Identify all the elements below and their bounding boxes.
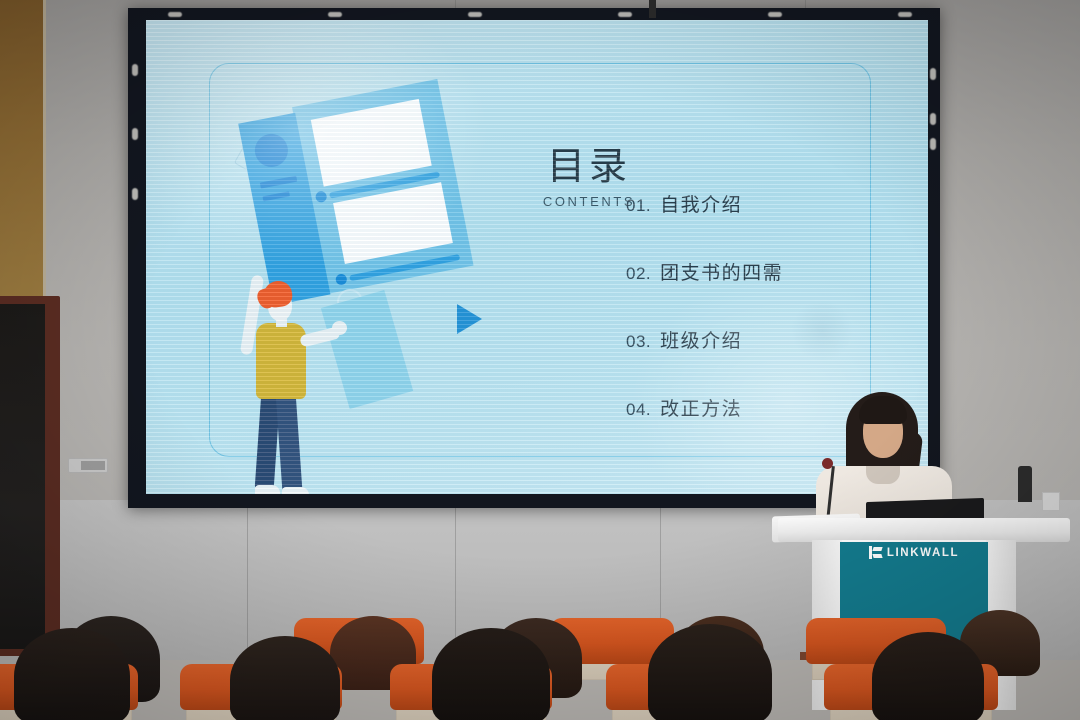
背景-dark-object: [1018, 466, 1032, 502]
list-item[interactable]: 01. 自我介绍: [626, 190, 916, 217]
toc-number: 04.: [626, 400, 651, 420]
person-right-hand: [332, 321, 347, 335]
bezel-light: [768, 12, 782, 17]
document-card-graphic: [238, 86, 470, 306]
wood-wall-panel: [0, 0, 44, 300]
podium-top: [778, 518, 1070, 542]
bezel-light: [468, 12, 482, 17]
bezel-light: [618, 12, 632, 17]
wall-outlet-plate: [68, 458, 108, 473]
bezel-light: [930, 68, 936, 80]
audience-head: [230, 636, 340, 720]
toc-label: 改正方法: [660, 394, 742, 421]
microphone-icon: [822, 458, 833, 469]
bezel-light: [930, 113, 936, 125]
toc-label: 班级介绍: [660, 326, 742, 353]
person-legs: [258, 393, 304, 493]
presentation-scene: 目录 CONTENTS 01. 自我介绍 02. 团支书的四需 03. 班级介绍…: [0, 0, 1080, 720]
toc-number: 03.: [626, 332, 651, 352]
linkwall-mark-icon: [869, 546, 882, 559]
speaker-hair-front: [859, 396, 907, 424]
wood-panel-edge: [43, 0, 46, 300]
audience-head: [872, 632, 984, 720]
toc-label: 自我介绍: [660, 190, 742, 217]
toc-label: 团支书的四需: [660, 258, 783, 285]
person-torso: [256, 323, 306, 399]
person-leg: [276, 392, 303, 491]
brand-label: LINKWALL: [887, 547, 959, 559]
list-item[interactable]: 03. 班级介绍: [626, 326, 916, 353]
audience-head: [648, 624, 772, 720]
wall-socket-icon: [1042, 492, 1060, 511]
slide-illustration: [214, 75, 514, 475]
ceiling-mount-icon: [649, 0, 656, 18]
toc-number: 01.: [626, 196, 651, 216]
bezel-light: [132, 188, 138, 200]
bezel-light: [168, 12, 182, 17]
page-title: 目录: [479, 147, 699, 185]
person-shoe: [282, 487, 309, 494]
bezel-light: [898, 12, 912, 17]
speaker-collar: [866, 466, 900, 484]
toc-number: 02.: [626, 264, 651, 284]
audience-head: [432, 628, 550, 720]
audience-rows: [0, 596, 1080, 720]
person-shoe: [255, 485, 280, 494]
bezel-light: [328, 12, 342, 17]
audience-head: [14, 628, 130, 720]
bezel-light: [132, 64, 138, 76]
bezel-light: [132, 128, 138, 140]
bezel-light: [930, 138, 936, 150]
podium-logo: LINKWALL: [840, 546, 988, 559]
list-item[interactable]: 02. 团支书的四需: [626, 258, 916, 285]
small-card-graphic: [321, 290, 413, 409]
play-triangle-icon: [457, 304, 482, 334]
